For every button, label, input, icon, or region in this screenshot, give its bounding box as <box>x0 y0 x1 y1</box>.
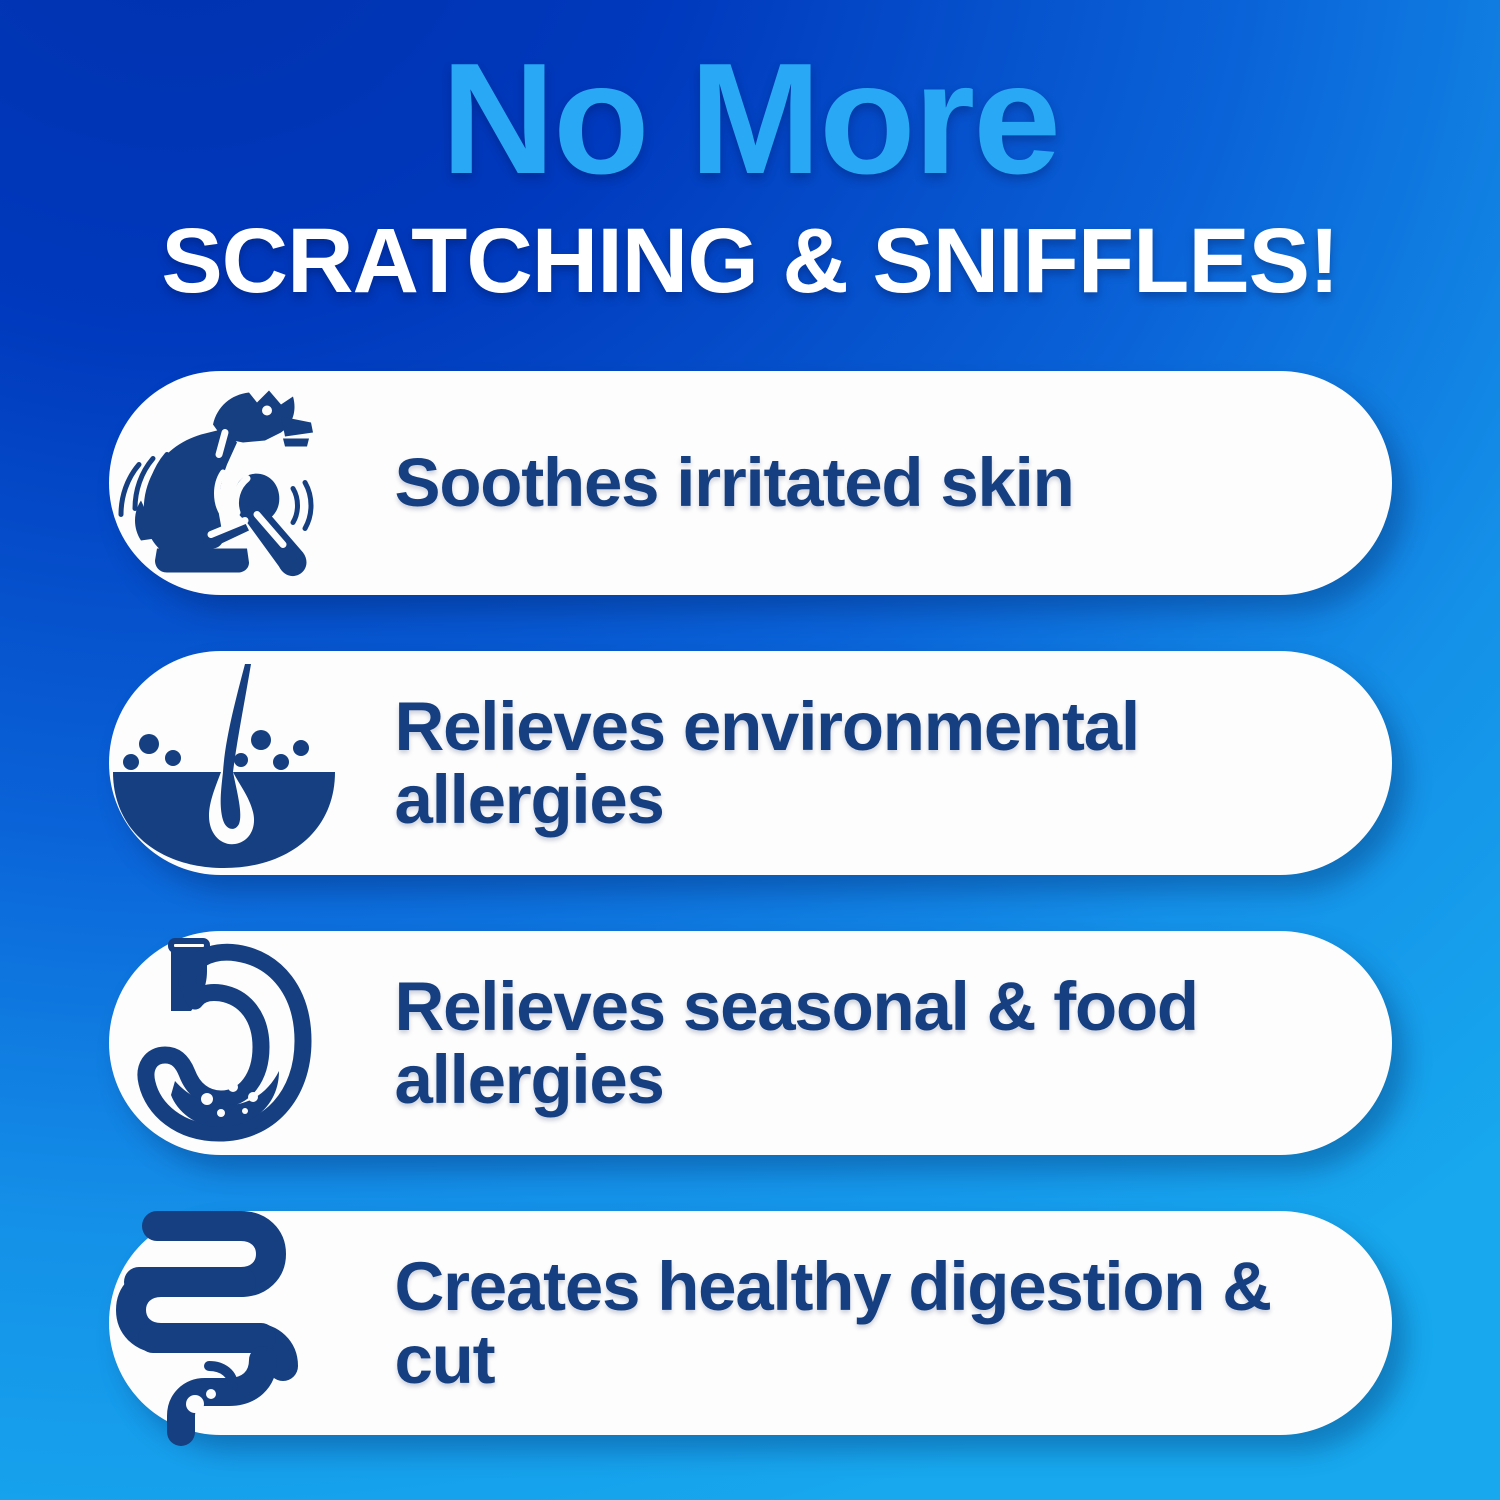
benefit-card[interactable]: Relieves seasonal & food allergies <box>109 931 1392 1155</box>
benefit-card[interactable]: Soothes irritated skin <box>109 371 1392 595</box>
stomach-icon <box>103 931 343 1155</box>
promo-poster: No More SCRATCHING & SNIFFLES! <box>0 0 1500 1500</box>
benefit-label: Relieves environmental allergies <box>395 690 1340 836</box>
benefit-label: Creates healthy digestion & cut <box>395 1250 1340 1396</box>
page-subtitle: SCRATCHING & SNIFFLES! <box>0 215 1500 309</box>
headline-block: No More SCRATCHING & SNIFFLES! <box>0 42 1500 309</box>
dog-scratching-icon <box>97 381 327 586</box>
benefit-label: Soothes irritated skin <box>395 446 1074 519</box>
benefit-card-list: Soothes irritated skin <box>0 371 1500 1435</box>
page-title: No More <box>0 42 1500 197</box>
benefit-label: Relieves seasonal & food allergies <box>395 970 1340 1116</box>
benefit-card[interactable]: Relieves environmental allergies <box>109 651 1392 875</box>
intestines-gut-icon <box>113 1208 353 1438</box>
hair-follicle-skin-allergen-icon <box>105 654 343 872</box>
benefit-card[interactable]: Creates healthy digestion & cut <box>109 1211 1392 1435</box>
